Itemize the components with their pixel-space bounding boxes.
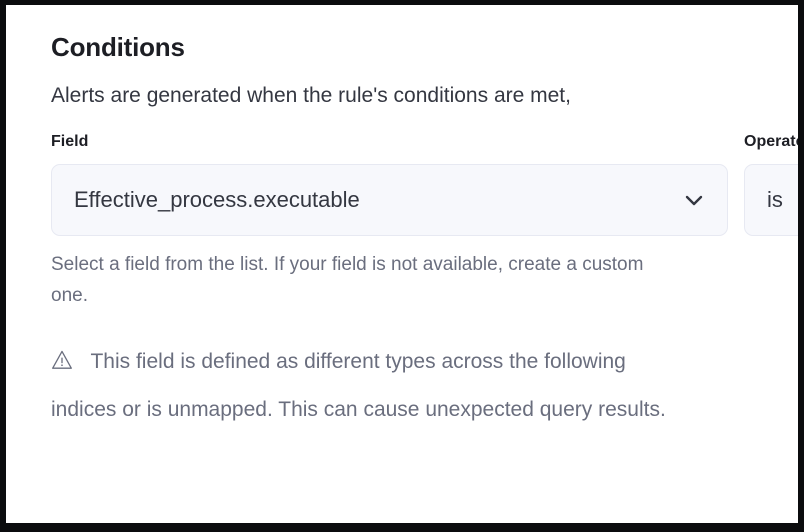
operator-select-value: is [767,186,798,214]
field-select-value: Effective_process.executable [74,186,681,214]
field-select[interactable]: Effective_process.executable [51,164,728,236]
operator-select[interactable]: is [744,164,798,236]
field-label: Field [51,132,728,152]
conditions-panel: Conditions Alerts are generated when the… [6,5,798,434]
operator-group: Operator is [744,132,798,236]
page-title: Conditions [51,31,798,63]
field-group: Field Effective_process.executable [51,132,728,236]
field-warning: This field is defined as different types… [51,338,696,434]
operator-label: Operator [744,132,798,152]
chevron-down-icon[interactable] [681,187,707,213]
screenshot-frame: Conditions Alerts are generated when the… [0,0,804,532]
panel-description: Alerts are generated when the rule's con… [51,82,798,109]
field-warning-text: This field is defined as different types… [51,350,666,421]
warning-triangle-icon [51,349,73,371]
viewport: Conditions Alerts are generated when the… [6,5,798,523]
field-helper-text: Select a field from the list. If your fi… [51,249,676,311]
condition-row: Field Effective_process.executable Opera… [51,132,798,236]
